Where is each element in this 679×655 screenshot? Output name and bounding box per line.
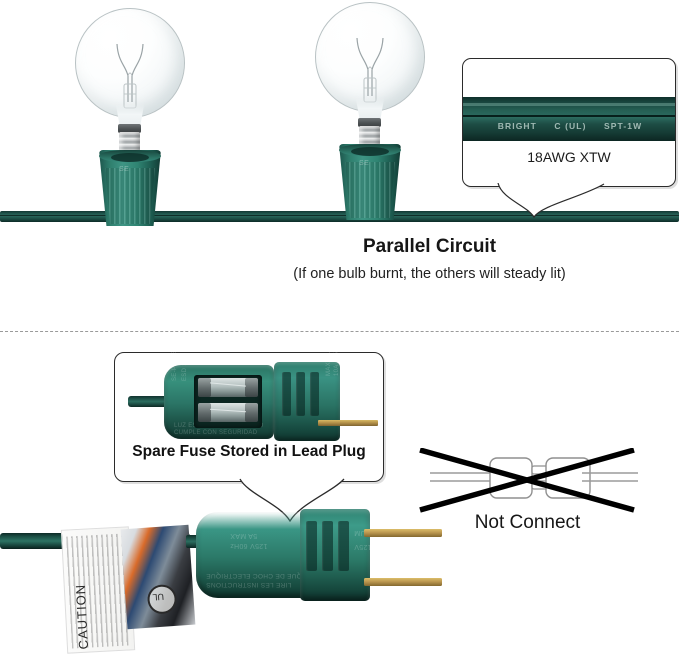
section-divider — [0, 331, 679, 332]
wire-mark-type: SPT-1W — [604, 121, 642, 131]
fuse-1-cap-left — [198, 378, 211, 397]
plug-slot-3 — [310, 372, 319, 416]
wire-printed-markings: BRIGHT C (UL) SPT-1W — [463, 121, 676, 131]
fuse-2-cap-right — [245, 403, 258, 422]
plug-mold-text-left2: ESD 18S — [182, 354, 188, 381]
not-connect-symbol — [412, 448, 642, 516]
filament-icon — [113, 32, 147, 112]
fuse-1-cap-right — [245, 378, 258, 397]
parallel-circuit-subheading: (If one bulb burnt, the others will stea… — [0, 266, 679, 282]
lead-plug-prong-1 — [364, 529, 442, 537]
bulb-assembly-right: SE — [315, 2, 425, 222]
wire-callout-pointer — [496, 183, 606, 219]
plug-slot-2 — [296, 372, 305, 416]
diagram-canvas: SE SE BRIGHT C (UL) SPT-1W 18AWG — [0, 0, 679, 655]
wire-mark-cert: C (UL) — [554, 121, 586, 131]
wire-gauge-caption: 18AWG XTW — [463, 149, 675, 165]
filament-icon — [353, 26, 387, 106]
plug-mold-text-right: MAXIMUM — [326, 336, 332, 376]
socket-opening — [111, 153, 149, 162]
product-sticker — [121, 525, 196, 629]
plug-prong-block: MAXIMUM 10A 125V — [274, 362, 340, 441]
lead-plug-prong-2 — [364, 578, 442, 586]
lead-plug-mold-text-right2: 10A 125V — [354, 543, 387, 550]
socket-opening — [351, 147, 389, 156]
lead-plug-body: 5A MAX 125V 60Hz RISQUE DE CHOC ELECTRIQ… — [196, 512, 316, 598]
plug-prong-1 — [318, 420, 378, 426]
lead-plug-mold-text-top2: 125V 60Hz — [230, 542, 267, 549]
plug-mold-text-right2: 10A 125V — [334, 336, 340, 376]
lead-plug-mold-text-top: 5A MAX — [230, 532, 257, 539]
spare-fuse-caption: Spare Fuse Stored in Lead Plug — [115, 443, 383, 461]
wire-closeup-callout: BRIGHT C (UL) SPT-1W 18AWG XTW — [462, 58, 676, 187]
lead-plug-slot-2 — [322, 521, 333, 571]
wire-closeup-groove — [462, 115, 676, 117]
lead-plug-prong-block: MAXIMUM 10A 125V — [300, 509, 370, 601]
bulb-assembly-left: SE — [75, 8, 185, 228]
socket-ribs — [344, 162, 396, 218]
ul-mark-icon — [147, 584, 178, 615]
wire-mark-brand: BRIGHT — [498, 121, 537, 131]
plug-mold-text-left: SE-PW 18 — [172, 351, 178, 381]
lead-plug-slot-1 — [306, 521, 317, 571]
wire-closeup-highlight — [462, 103, 676, 106]
plug-mold-text-bottom2: CUMPLE CON SEGURIDAD — [174, 430, 257, 436]
parallel-circuit-heading: Parallel Circuit — [0, 236, 679, 258]
lead-plug-mold-text-bottom2: LIRE LES INSTRUCTIONS — [206, 581, 291, 588]
socket-mark: SE — [119, 166, 129, 173]
fuse-2-cap-left — [198, 403, 211, 422]
lead-plug-mold-text-bottom: RISQUE DE CHOC ELECTRIQUE — [206, 572, 314, 579]
socket-ribs — [104, 168, 156, 224]
socket-mark: SE — [359, 160, 369, 167]
lead-plug-slot-3 — [338, 521, 349, 571]
plug-slot-1 — [282, 372, 291, 416]
